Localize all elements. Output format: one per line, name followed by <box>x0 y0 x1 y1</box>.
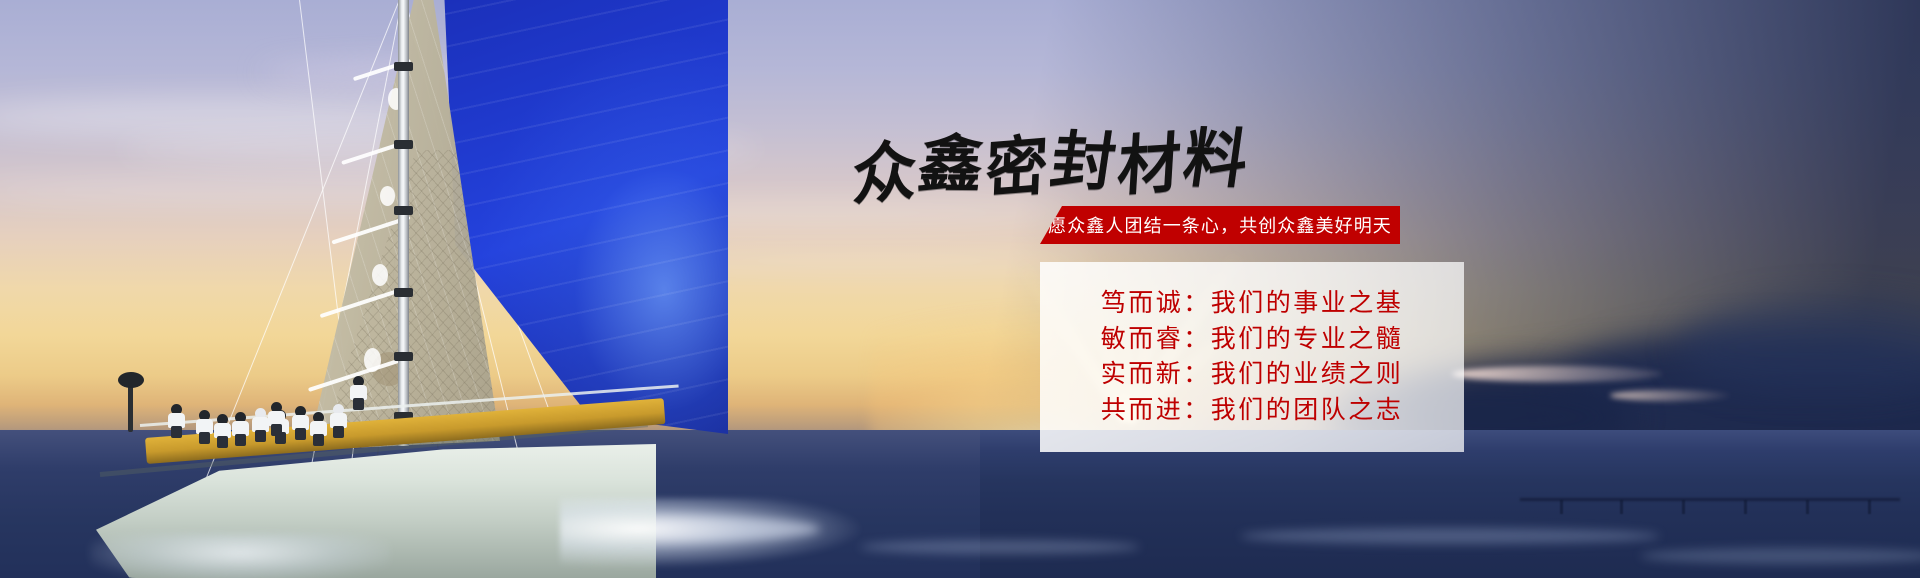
mast-fitting <box>394 352 413 361</box>
bow-light <box>118 372 144 388</box>
bow-wave <box>90 534 390 578</box>
cloud-highlight <box>1610 390 1730 401</box>
motto-panel: 笃而诚：我们的事业之基敏而睿：我们的专业之髓实而新：我们的业绩之则共而进：我们的… <box>1040 262 1464 452</box>
crew-legs <box>235 434 246 446</box>
motto-line-3: 实而新：我们的业绩之则 <box>1101 356 1404 392</box>
crew-legs <box>353 398 364 410</box>
bridge-pier <box>1560 500 1563 514</box>
crew-legs <box>217 436 228 448</box>
title-char-5: 材 <box>1116 131 1185 200</box>
bridge-silhouette <box>1520 498 1900 501</box>
crew-legs <box>333 426 344 438</box>
crew-legs <box>199 432 210 444</box>
stern-wake <box>560 498 860 568</box>
company-title-calligraphy: 众鑫密封材料 <box>850 123 1238 208</box>
crew-member <box>268 402 285 432</box>
motto-line-1: 笃而诚：我们的事业之基 <box>1101 285 1404 321</box>
sail-patch <box>372 264 388 286</box>
crew-member <box>232 412 249 442</box>
crew-member <box>168 404 185 434</box>
bridge-pier <box>1868 500 1871 514</box>
slogan-ribbon: 愿众鑫人团结一条心，共创众鑫美好明天 <box>1040 206 1400 244</box>
title-char-3: 密 <box>985 133 1052 203</box>
title-char-2: 鑫 <box>915 133 990 195</box>
bridge-pier <box>1620 500 1623 514</box>
crew-member <box>252 408 269 438</box>
sail-patch <box>364 348 381 372</box>
crew-member <box>350 376 367 406</box>
bridge-pier <box>1806 500 1809 514</box>
crew-member <box>310 412 327 442</box>
crew-legs <box>295 428 306 440</box>
mast-fitting <box>394 288 413 297</box>
crew-legs <box>171 426 182 438</box>
motto-line-2: 敏而睿：我们的专业之髓 <box>1101 321 1404 357</box>
bridge-pier <box>1682 500 1685 514</box>
sail-patch <box>380 186 395 206</box>
mast-fitting <box>394 206 413 215</box>
mast-fitting <box>394 62 413 71</box>
title-char-1: 众 <box>852 138 919 210</box>
title-char-6: 料 <box>1180 127 1254 192</box>
bridge-pier <box>1744 500 1747 514</box>
crew-legs <box>255 430 266 442</box>
crew-member <box>330 404 347 434</box>
banner-text-block: 众鑫密封材料 愿众鑫人团结一条心，共创众鑫美好明天 笃而诚：我们的事业之基敏而睿… <box>840 110 1500 470</box>
crew-member <box>214 414 231 444</box>
sailboat <box>0 0 760 578</box>
title-char-4: 封 <box>1047 129 1122 194</box>
crew-member <box>292 406 309 436</box>
crew-legs <box>313 434 324 446</box>
slogan-text: 愿众鑫人团结一条心，共创众鑫美好明天 <box>1048 212 1392 238</box>
crew-legs <box>271 424 282 436</box>
motto-line-4: 共而进：我们的团队之志 <box>1101 392 1404 428</box>
hero-banner: 众鑫密封材料 愿众鑫人团结一条心，共创众鑫美好明天 笃而诚：我们的事业之基敏而睿… <box>0 0 1920 578</box>
crew-member <box>196 410 213 440</box>
mast-fitting <box>394 140 413 149</box>
